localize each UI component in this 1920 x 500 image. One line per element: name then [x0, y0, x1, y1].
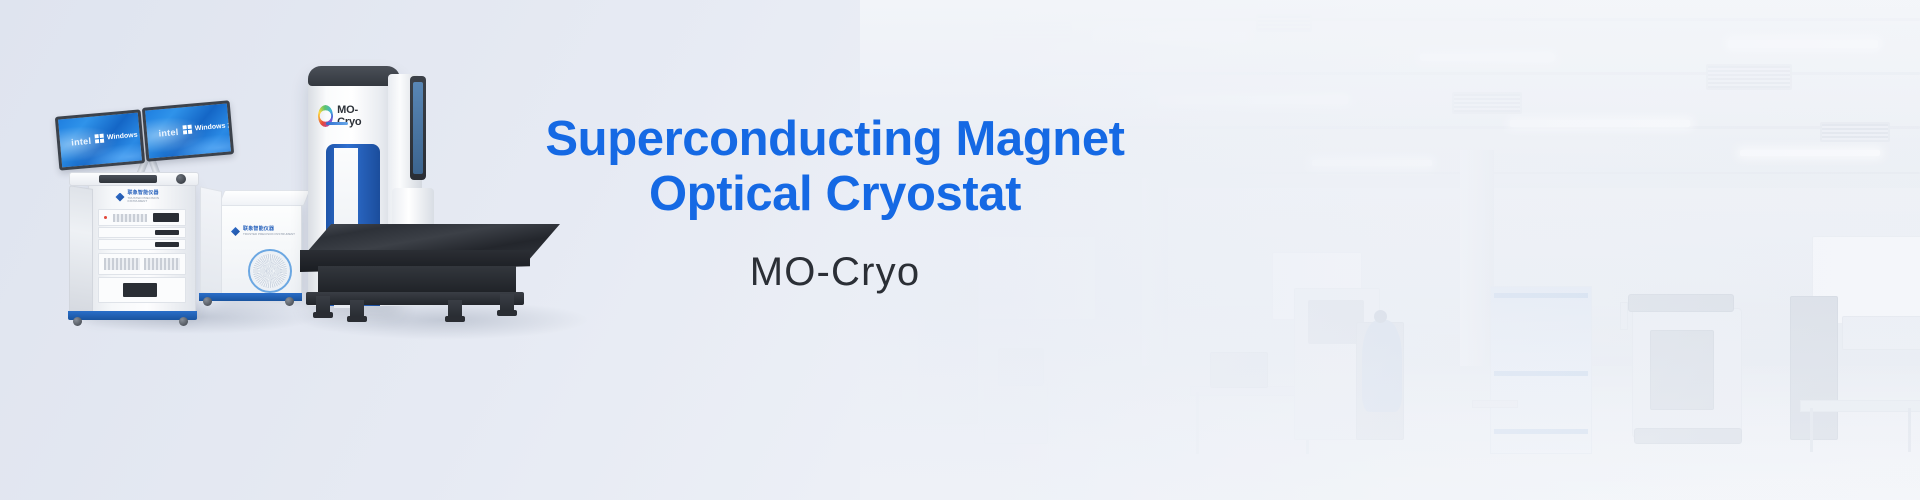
intel-logo-right: intel	[158, 127, 179, 139]
control-rack-cabinet: 联象智能仪器 TRUSTED PRECISION INSTRUMENT	[88, 180, 196, 314]
instrument-indicator-panel	[410, 76, 426, 180]
rack-keyboard-tray	[99, 175, 157, 183]
headline-line-2: Optical Cryostat	[535, 167, 1135, 222]
monitor-right: intel Windows 11	[142, 100, 234, 161]
headline-block: Superconducting Magnet Optical Cryostat …	[535, 112, 1135, 295]
chiller-brand-logo: 联象智能仪器 TRUSTED PRECISION INSTRUMENT	[231, 227, 295, 236]
brand-diamond-icon	[116, 193, 125, 202]
windows-badge-right: Windows 11	[183, 121, 235, 134]
product-banner: intel Windows 11 intel Windows 11 联象智能仪器	[0, 0, 1920, 500]
windows-badge-left: Windows 11	[95, 130, 145, 143]
rack-brand-logo: 联象智能仪器 TRUSTED PRECISION INSTRUMENT	[116, 191, 169, 203]
rack-power-knob	[176, 174, 186, 184]
chiller-fan-grille	[248, 249, 292, 293]
product-model-subtitle: MO-Cryo	[535, 250, 1135, 295]
windows-icon	[95, 134, 105, 144]
monitor-left: intel Windows 11	[55, 109, 145, 170]
headline-line-1: Superconducting Magnet	[535, 112, 1135, 167]
intel-logo: intel	[71, 136, 92, 148]
chiller-unit: 联象智能仪器 TRUSTED PRECISION INSTRUMENT	[218, 202, 302, 296]
brand-diamond-icon-chiller	[231, 227, 240, 236]
windows-icon-right	[183, 125, 193, 135]
product-photo-group: intel Windows 11 intel Windows 11 联象智能仪器	[0, 0, 620, 500]
